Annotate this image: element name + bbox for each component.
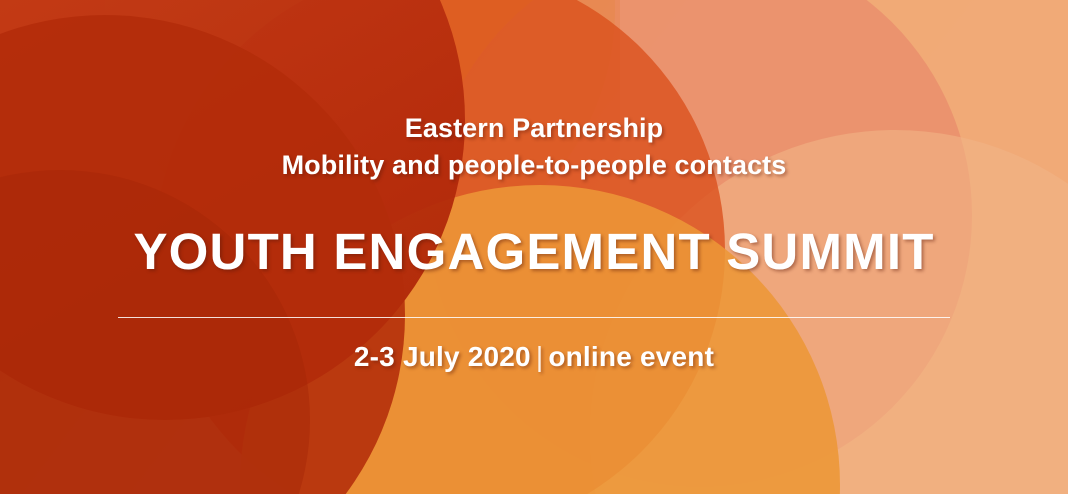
event-banner: Eastern Partnership Mobility and people-… <box>0 0 1068 494</box>
decorative-background-art <box>0 0 1068 494</box>
background-vignette <box>0 0 1068 494</box>
